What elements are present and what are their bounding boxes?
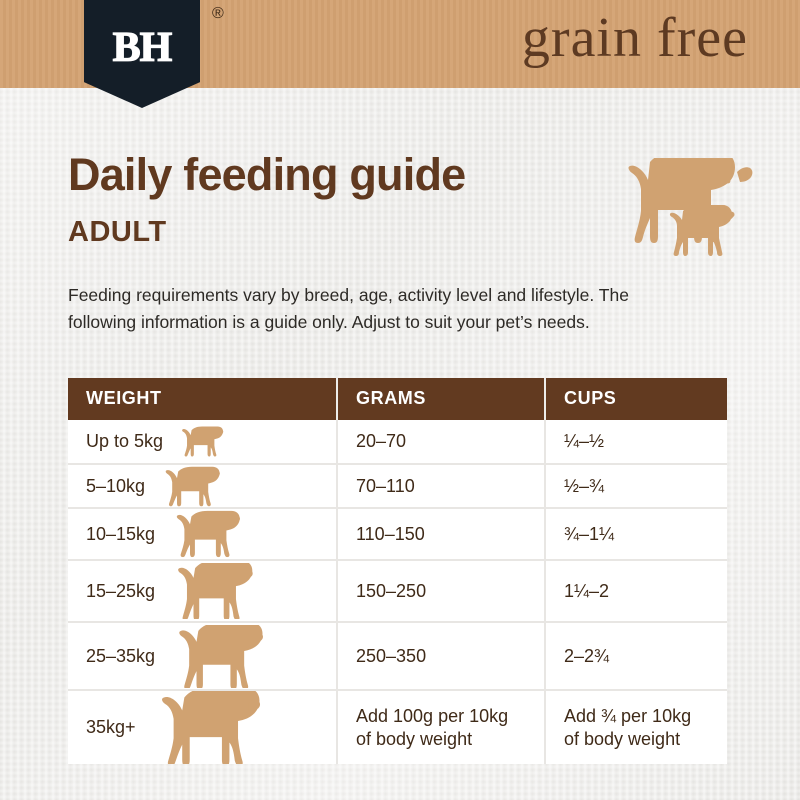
cell-weight: 35kg+ (68, 690, 337, 764)
cell-grams: 110–150 (337, 508, 545, 560)
cell-grams: 20–70 (337, 420, 545, 464)
grain-free-tagline: grain free (522, 10, 748, 66)
small-dog-icon (167, 426, 336, 457)
cell-cups: Add ¾ per 10kgof body weight (545, 690, 727, 764)
registered-trademark-icon: ® (212, 5, 224, 23)
table-header: WEIGHT GRAMS CUPS (68, 378, 727, 420)
cell-weight: 25–35kg (68, 622, 337, 690)
table-row: Up to 5kg 20–70¼–½ (68, 420, 727, 464)
table-row: 25–35kg 250–3502–2¾ (68, 622, 727, 690)
weight-label: Up to 5kg (86, 431, 163, 452)
cell-weight: Up to 5kg (68, 420, 337, 464)
column-header-weight: WEIGHT (68, 378, 337, 420)
table-row: 5–10kg 70–110½–¾ (68, 464, 727, 508)
column-header-cups: CUPS (545, 378, 727, 420)
table-row: 35kg+ Add 100g per 10kgof body weightAdd… (68, 690, 727, 764)
bh-logo-text: BH (113, 24, 172, 72)
weight-label: 5–10kg (86, 476, 145, 497)
table-row: 10–15kg 110–150¾–1¼ (68, 508, 727, 560)
weight-label: 35kg+ (86, 717, 136, 738)
daily-feeding-table: WEIGHT GRAMS CUPS Up to 5kg 20–70¼–½ 5–1… (68, 378, 727, 764)
extra-large-dog-icon (140, 691, 336, 764)
cell-grams: 150–250 (337, 560, 545, 622)
table-row: 15–25kg 150–2501¼–2 (68, 560, 727, 622)
weight-label: 15–25kg (86, 581, 155, 602)
cell-weight: 5–10kg (68, 464, 337, 508)
life-stage-subtitle: ADULT (68, 218, 167, 247)
weight-label: 25–35kg (86, 646, 155, 667)
page-title: Daily feeding guide (68, 152, 465, 197)
weight-label: 10–15kg (86, 524, 155, 545)
cell-grams: 70–110 (337, 464, 545, 508)
cell-cups: 2–2¾ (545, 622, 727, 690)
cell-grams: 250–350 (337, 622, 545, 690)
column-header-grams: GRAMS (337, 378, 545, 420)
intro-paragraph: Feeding requirements vary by breed, age,… (68, 282, 668, 336)
cell-grams: Add 100g per 10kgof body weight (337, 690, 545, 764)
cell-weight: 15–25kg (68, 560, 337, 622)
adult-dog-and-puppy-icon (604, 158, 764, 268)
medium-dog-icon (159, 510, 336, 558)
small-medium-dog-icon (149, 466, 336, 507)
table-body: Up to 5kg 20–70¼–½ 5–10kg 70–110½–¾ 10–1… (68, 420, 727, 764)
cell-cups: ¾–1¼ (545, 508, 727, 560)
cell-weight: 10–15kg (68, 508, 337, 560)
table-header-row: WEIGHT GRAMS CUPS (68, 378, 727, 420)
cell-cups: ½–¾ (545, 464, 727, 508)
cell-cups: ¼–½ (545, 420, 727, 464)
cell-cups: 1¼–2 (545, 560, 727, 622)
large-dog-icon (159, 625, 336, 688)
bh-brand-logo: BH (84, 0, 200, 108)
medium-large-dog-icon (159, 563, 336, 619)
